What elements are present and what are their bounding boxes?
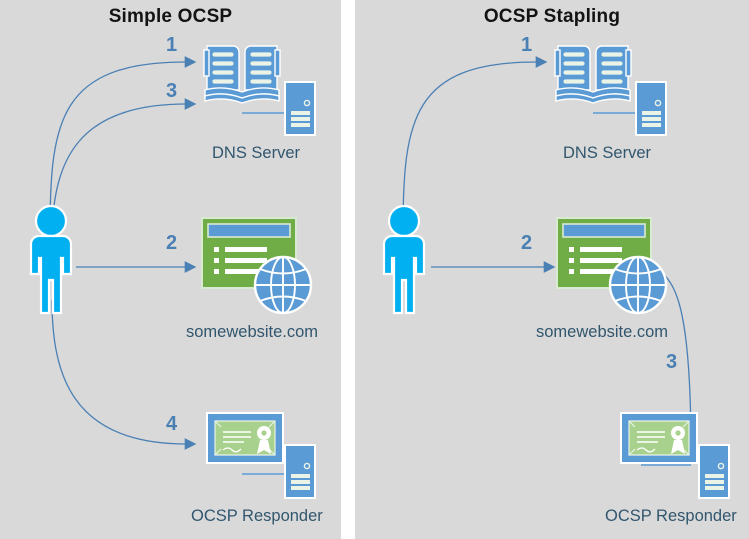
step-number-4: 4	[166, 413, 177, 436]
node-label-dns-server: DNS Server	[563, 144, 651, 163]
panel-title-ocsp-stapling: OCSP Stapling	[355, 6, 749, 28]
step-number-3: 3	[166, 80, 177, 103]
book-server-icon	[551, 40, 675, 140]
node-label-ocsp-responder: OCSP Responder	[191, 507, 323, 526]
diagram-canvas: Simple OCSP 1 2 3 4	[0, 0, 749, 539]
webpage-globe-icon	[200, 216, 316, 316]
webpage-globe-icon	[555, 216, 671, 316]
certificate-server-icon	[204, 410, 324, 502]
node-label-dns-server: DNS Server	[212, 144, 300, 163]
panel-title-simple-ocsp: Simple OCSP	[0, 6, 341, 28]
node-label-somewebsite: somewebsite.com	[186, 323, 318, 342]
person-icon	[20, 203, 82, 315]
certificate-server-icon	[618, 410, 738, 502]
panel-ocsp-stapling: OCSP Stapling 1 2 3	[355, 0, 749, 539]
book-server-icon	[200, 40, 324, 140]
step-number-2: 2	[521, 232, 532, 255]
step-number-3: 3	[666, 351, 677, 374]
node-label-ocsp-responder: OCSP Responder	[605, 507, 737, 526]
step-number-1: 1	[521, 34, 532, 57]
step-number-2: 2	[166, 232, 177, 255]
panel-simple-ocsp: Simple OCSP 1 2 3 4	[0, 0, 341, 539]
person-icon	[373, 203, 435, 315]
step-number-1: 1	[166, 34, 177, 57]
node-label-somewebsite: somewebsite.com	[536, 323, 668, 342]
